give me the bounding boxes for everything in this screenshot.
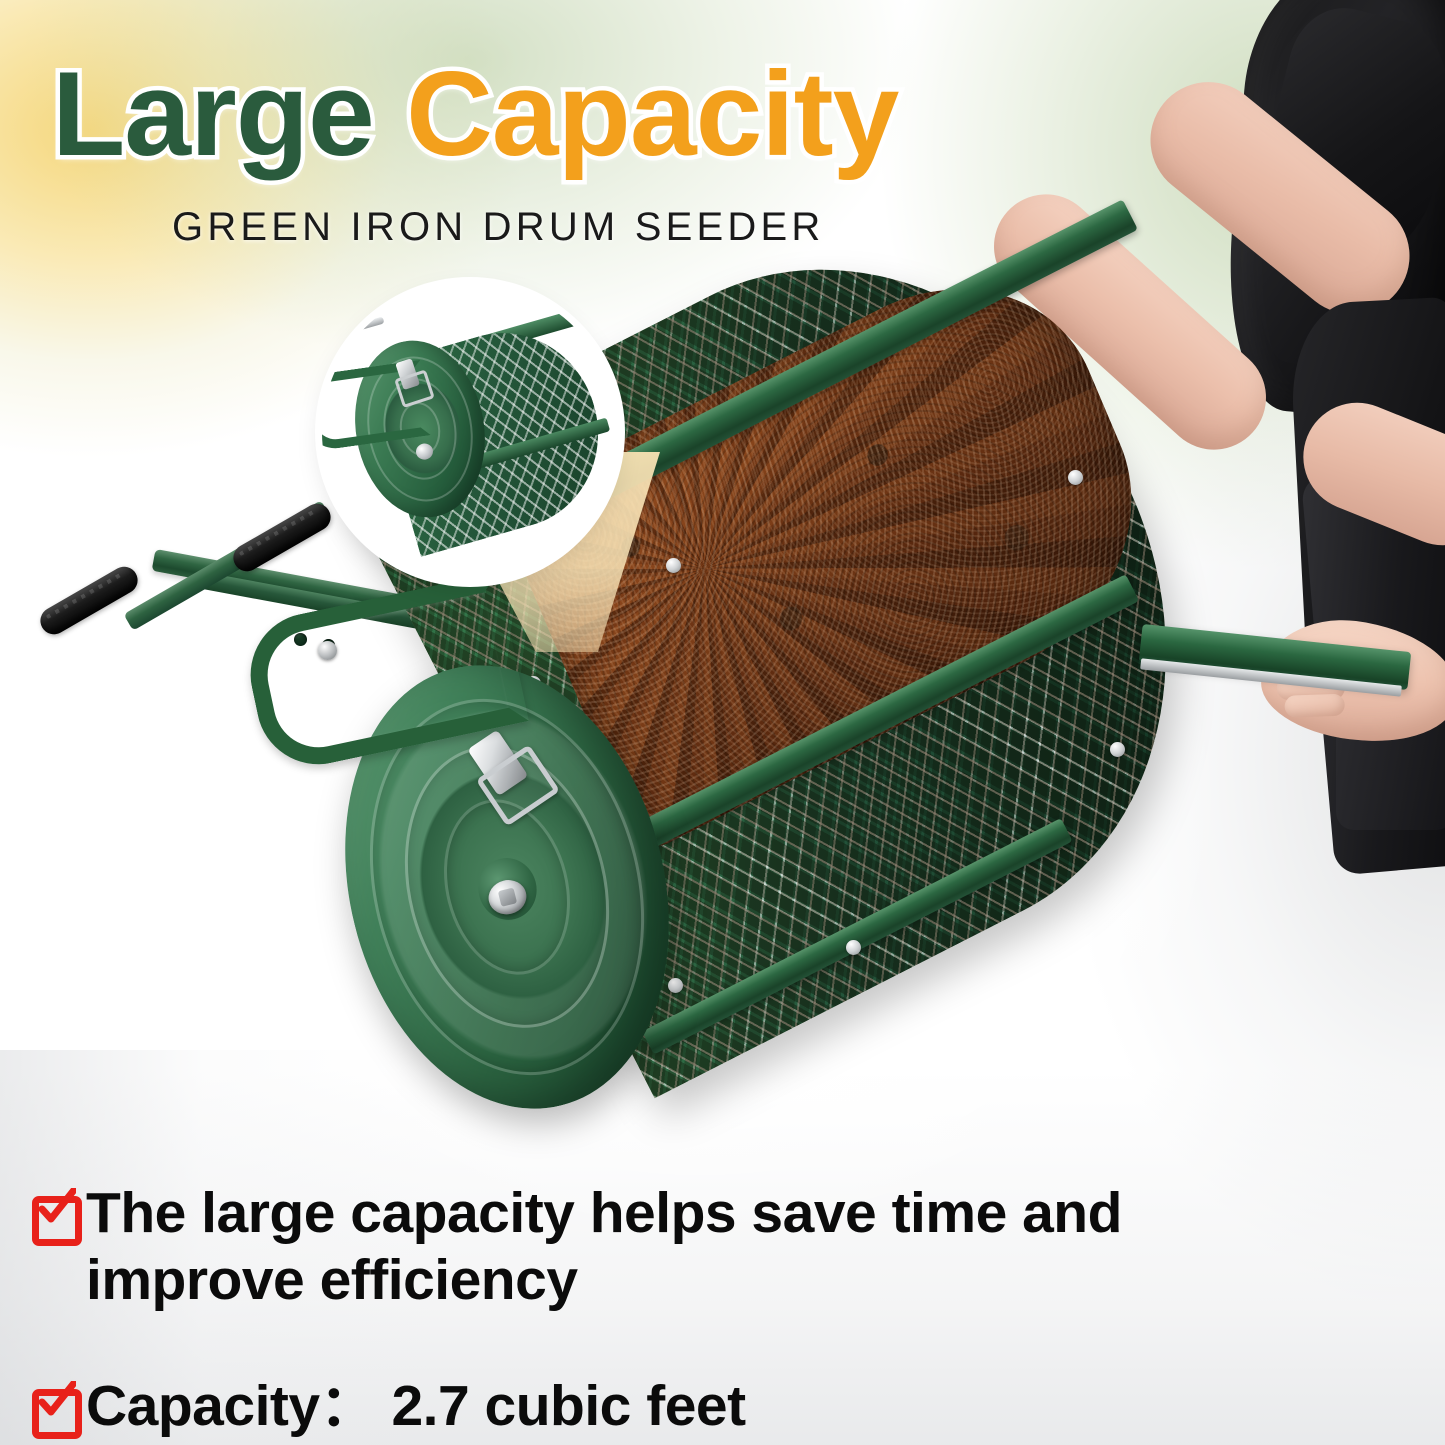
bullet-item: Capacity： 2.7 cubic feet [30,1373,1230,1440]
drum-rivet [1068,470,1083,485]
person-right-upper-arm [1287,386,1445,561]
handle-grip-left [35,562,142,639]
inset-drum-tab [358,317,385,331]
bullet-text: Capacity： 2.7 cubic feet [86,1373,746,1440]
headline-part-one: Large [52,47,374,181]
headline: Large Capacity [52,54,898,174]
person-sleeve [1244,0,1445,281]
product-marketing-poster: Large Capacity GREEN IRON DRUM SEEDER Th… [0,0,1445,1445]
detail-inset-circle [322,284,618,580]
drum-rivet [668,978,683,993]
drum-rivet [666,558,681,573]
person-upper-arm [1127,59,1433,338]
red-checkbox-icon [30,1385,74,1429]
person-lower-torso [1288,295,1445,774]
bullet-text: The large capacity helps save time and i… [86,1180,1206,1315]
drum-rivet [1110,742,1125,757]
person-apron-pocket [1336,700,1445,830]
handle-grip-right [228,499,335,576]
person-torso [1217,0,1445,425]
bullet-item: The large capacity helps save time and i… [30,1180,1230,1315]
drum-rivet [846,940,861,955]
headline-part-two: Capacity [406,47,898,181]
feature-bullet-list: The large capacity helps save time and i… [30,1180,1230,1440]
red-checkbox-icon [30,1192,74,1236]
subheading: GREEN IRON DRUM SEEDER [172,205,824,250]
